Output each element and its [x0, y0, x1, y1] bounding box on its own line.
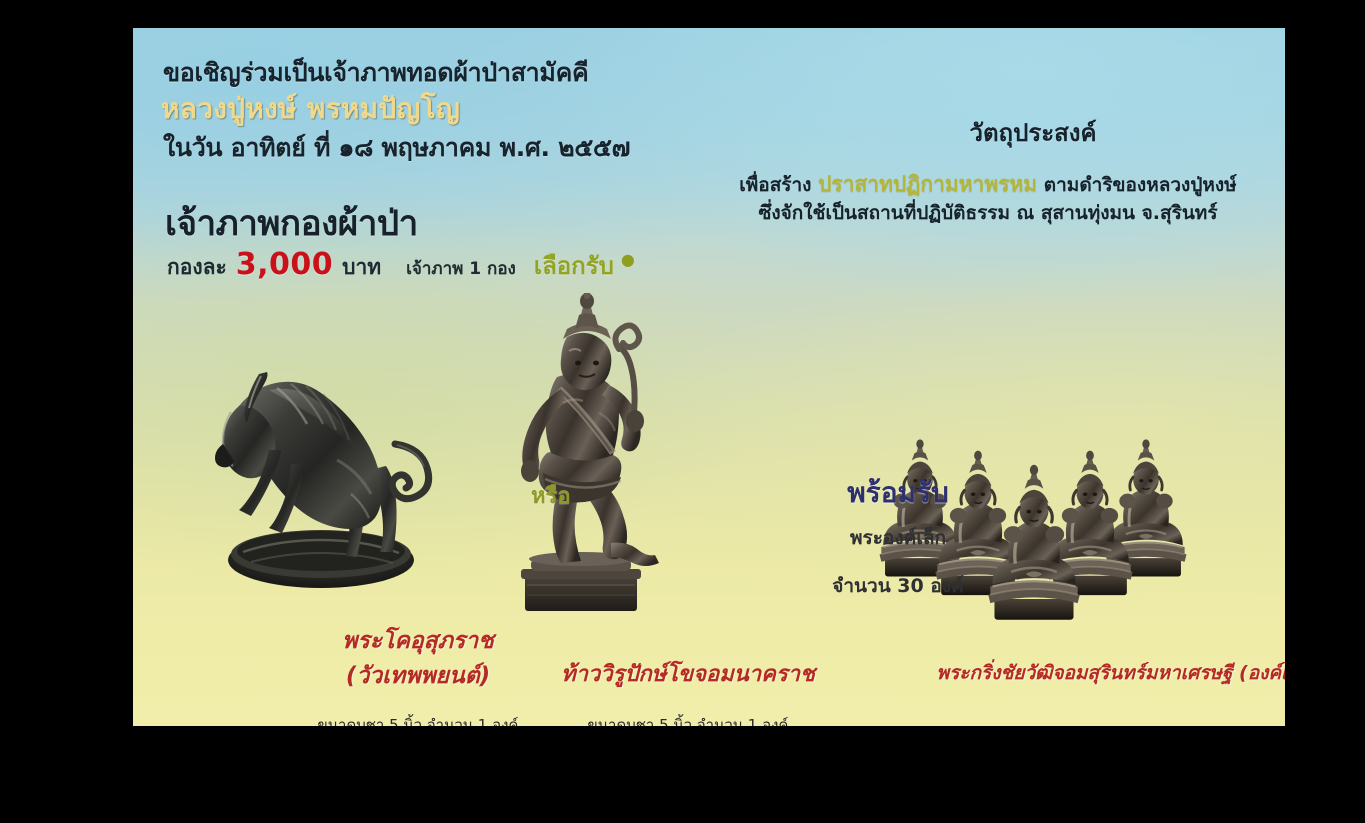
price-unit: บาท [342, 251, 381, 284]
purpose-line1-prefix: เพื่อสร้าง [739, 174, 811, 196]
purpose-title: วัตถุประสงค์ [803, 113, 1263, 152]
purpose-line1-suffix: ตามดำริของหลวงปู่หงษ์ [1044, 174, 1237, 196]
screenshot-root: ขอเชิญร่วมเป็นเจ้าภาพทอดผ้าป่าสามัคคี หล… [0, 0, 1365, 823]
purpose-line-2: ซึ่งจักใช้เป็นสถานที่ปฏิบัติธรรม ณ สุสาน… [693, 198, 1283, 228]
price-label: กองละ [167, 251, 227, 284]
or-connector-label: หรือ [531, 478, 571, 513]
monk-name-headline: หลวงปู่หงษ์ พรหมปัญโญ [161, 87, 460, 131]
purpose-highlight: ปราสาทปฏิกามหาพรหม [818, 172, 1037, 196]
ready-to-receive-subtitle: พระองค์เล็ก [773, 523, 1023, 553]
item-2-size-note: ขนาดบูชา 5 นิ้ว จำนวน 1 องค์ [528, 713, 848, 726]
choose-label: เลือกรับ [534, 246, 614, 285]
item-1-size-note: ขนาดบูชา 5 นิ้ว จำนวน 1 องค์ [273, 713, 563, 726]
price-amount: 3,000 [236, 247, 333, 282]
purpose-line-1: เพื่อสร้าง ปราสาทปฏิกามหาพรหม ตามดำริของ… [693, 168, 1283, 201]
ready-to-receive-title: พร้อมรับ [773, 471, 1023, 515]
price-row: กองละ 3,000 บาท เจ้าภาพ 1 กอง เลือกรับ ● [167, 246, 637, 285]
merit-invitation-poster: ขอเชิญร่วมเป็นเจ้าภาพทอดผ้าป่าสามัคคี หล… [133, 28, 1285, 726]
ready-to-receive-count: จำนวน 30 องค์ [773, 571, 1023, 601]
event-date-line: ในวัน อาทิตย์ ที่ ๑๘ พฤษภาคม พ.ศ. ๒๕๕๗ [163, 128, 630, 168]
dancing-deity-statue-image [463, 293, 713, 627]
item-3-name-line-1: พระกริ่งชัยวัฒิจอมสุรินทร์มหาเศรษฐี (องค… [893, 658, 1285, 688]
item-2-name-line-1: ท้าววิรูปักษ์โขจอมนาคราช [528, 656, 848, 691]
item-1-name-line-1: พระโคอุสุภราช [288, 623, 548, 659]
asterisk-icon: ● [621, 250, 635, 269]
bull-statue-image [173, 328, 463, 602]
per-host-note: เจ้าภาพ 1 กอง [406, 255, 516, 282]
host-section-title: เจ้าภาพกองผ้าป่า [165, 196, 418, 251]
item-1-name-line-2: (วัวเทพพยนต์) [288, 658, 548, 694]
